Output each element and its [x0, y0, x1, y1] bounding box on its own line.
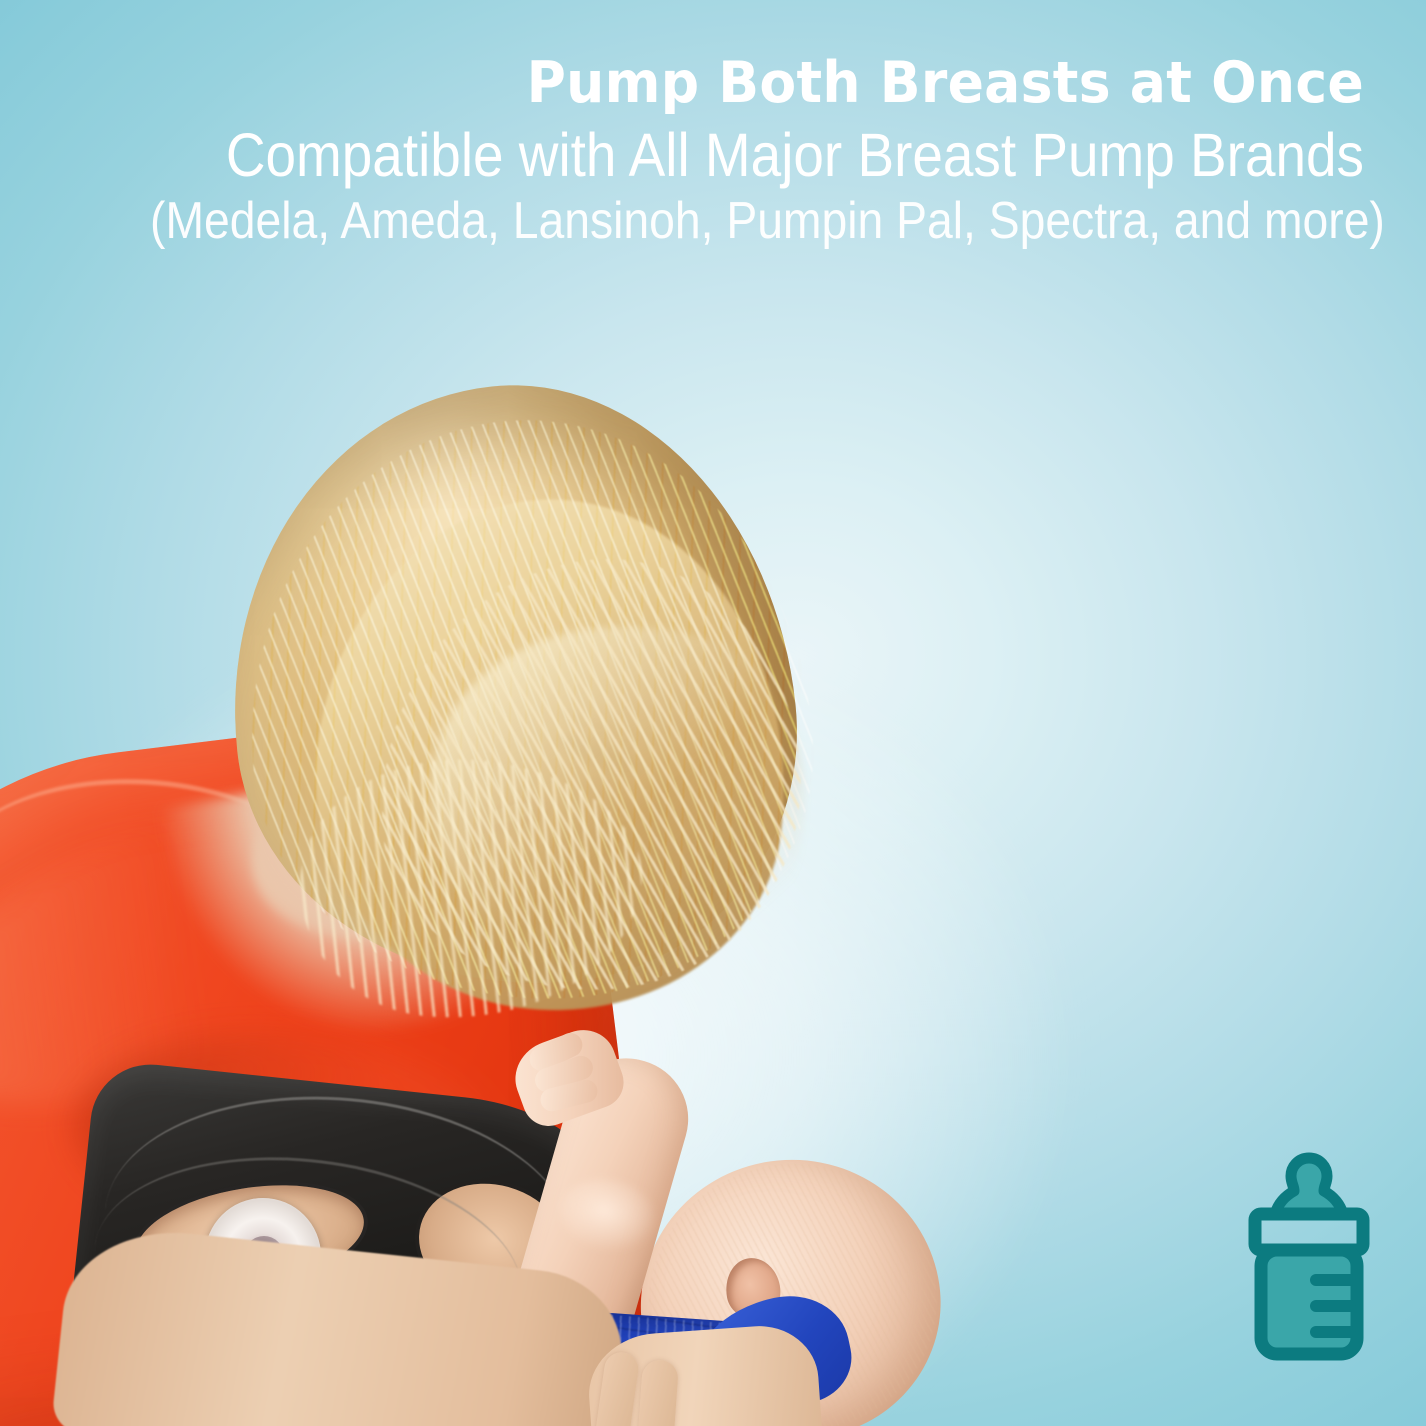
subtitle: Compatible with All Major Breast Pump Br… — [136, 123, 1364, 188]
baby-bottle-glyph — [1244, 1146, 1374, 1368]
product-poster: Pump Both Breasts at Once Compatible wit… — [0, 0, 1426, 1426]
baby-bottle-icon — [1244, 1146, 1374, 1368]
page-title: Pump Both Breasts at Once — [82, 54, 1364, 113]
headline-block: Pump Both Breasts at Once Compatible wit… — [0, 54, 1426, 249]
mother-finger — [637, 1359, 679, 1426]
bottle-nipple — [1275, 1158, 1343, 1214]
brand-list: (Medela, Ameda, Lansinoh, Pumpin Pal, Sp… — [150, 194, 1364, 249]
